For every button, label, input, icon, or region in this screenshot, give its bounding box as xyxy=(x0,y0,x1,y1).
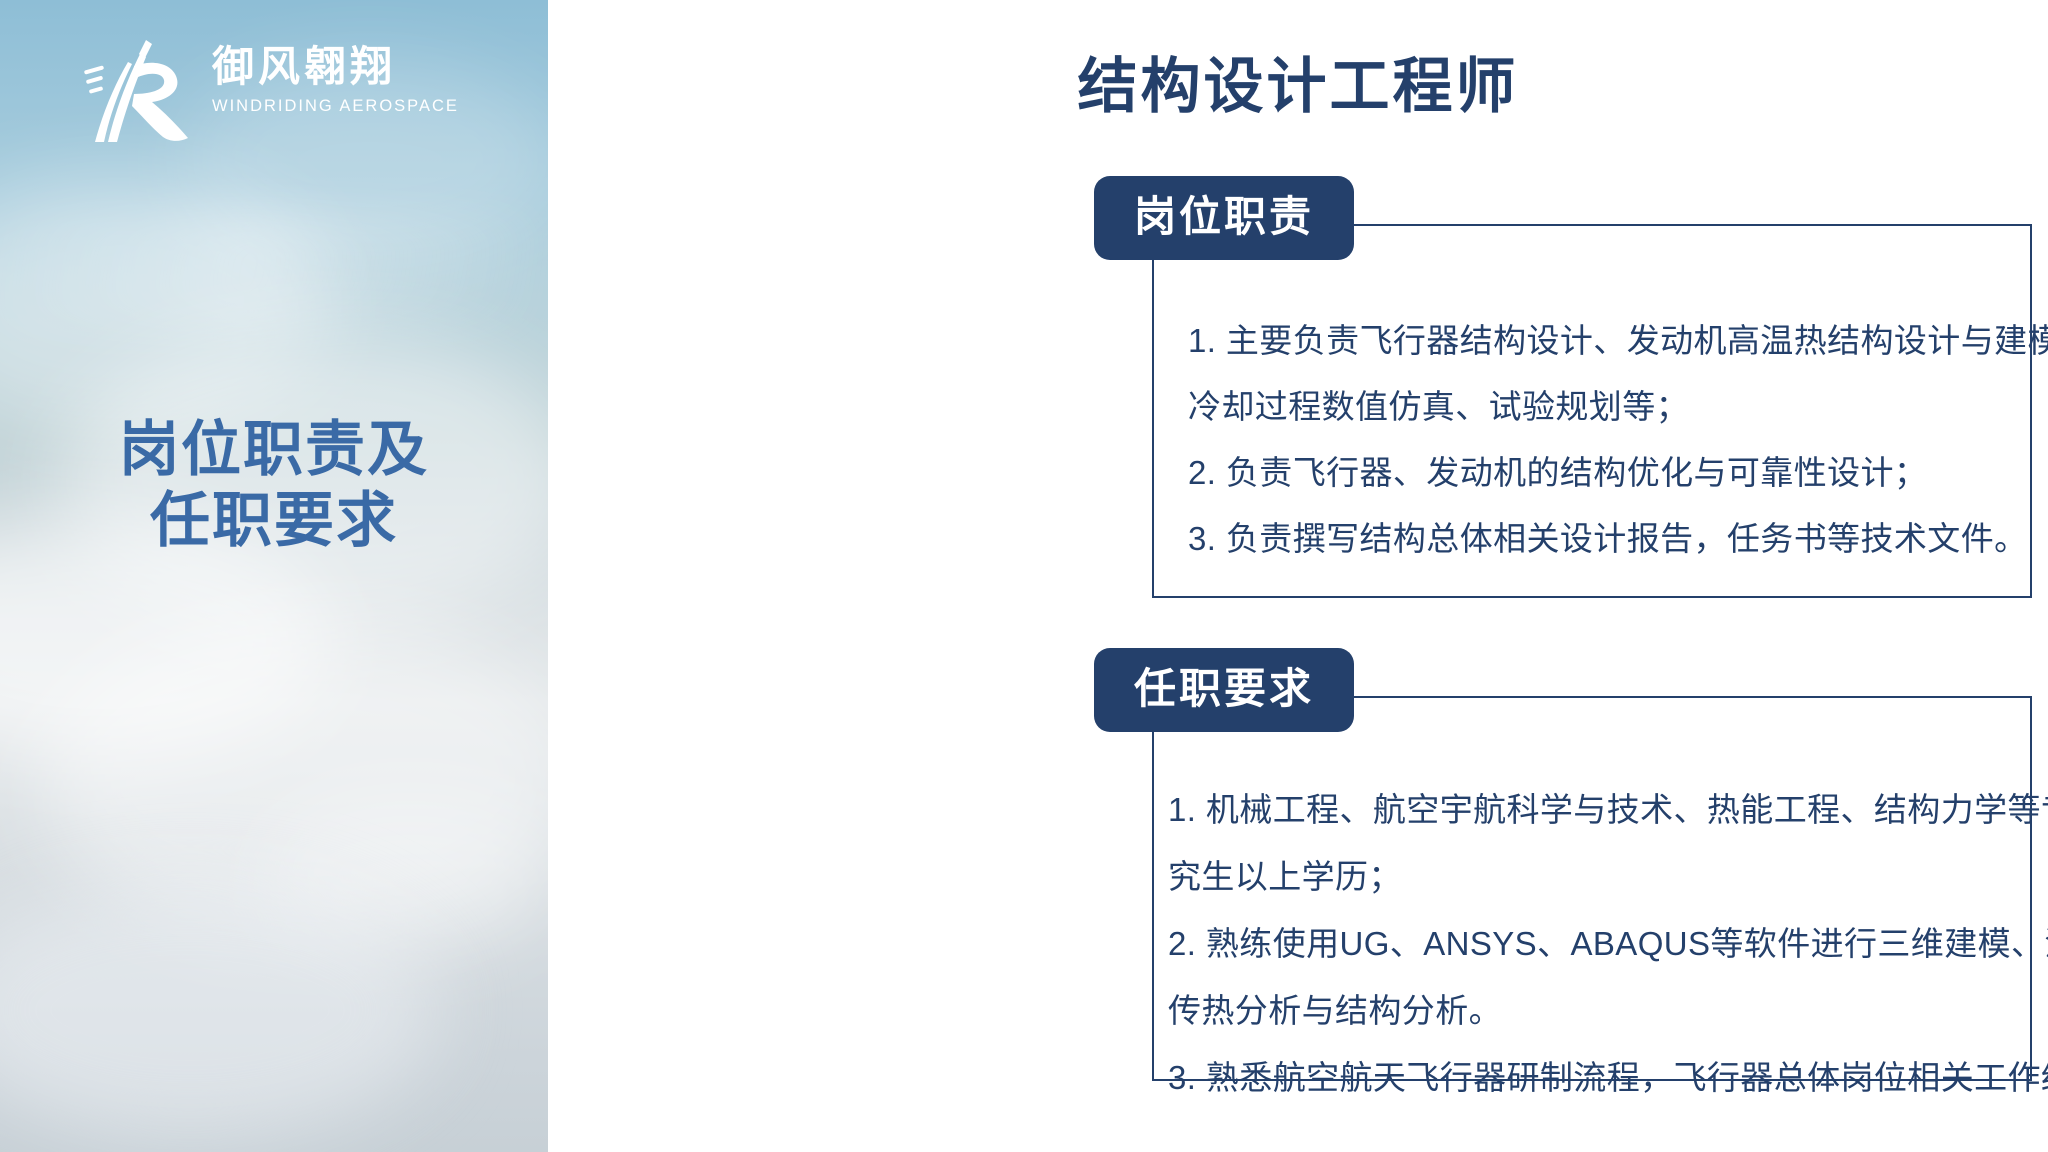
duties-card-body: 1. 主要负责飞行器结构设计、发动机高温热结构设计与建模、主被动 冷却过程数值仿… xyxy=(1152,224,2032,572)
duties-badge: 岗位职责 xyxy=(1094,176,1354,260)
page-title: 结构设计工程师 xyxy=(548,38,2048,125)
requirements-line: 究生以上学历； xyxy=(1168,843,1998,910)
logo-name-cn: 御风翱翔 xyxy=(212,46,462,88)
duties-card: 岗位职责 1. 主要负责飞行器结构设计、发动机高温热结构设计与建模、主被动 冷却… xyxy=(1152,224,2032,598)
logo-wordmark: 御风翱翔 WINDRIDING AEROSPACE xyxy=(212,46,462,116)
sidebar-heading: 岗位职责及 任职要求 xyxy=(0,415,548,557)
requirements-card: 任职要求 1. 机械工程、航空宇航科学与技术、热能工程、结构力学等专业硕士研 究… xyxy=(1152,696,2032,1081)
requirements-line: 2. 熟练使用UG、ANSYS、ABAQUS等软件进行三维建模、流场仿真、 xyxy=(1168,910,1998,977)
cloud-decoration xyxy=(40,620,548,940)
cloud-streak-decoration xyxy=(0,210,548,330)
requirements-card-body: 1. 机械工程、航空宇航科学与技术、热能工程、结构力学等专业硕士研 究生以上学历… xyxy=(1152,696,2032,1111)
duties-line: 冷却过程数值仿真、试验规划等； xyxy=(1188,374,1998,440)
duties-line: 3. 负责撰写结构总体相关设计报告，任务书等技术文件。 xyxy=(1188,506,1998,572)
requirements-line: 1. 机械工程、航空宇航科学与技术、热能工程、结构力学等专业硕士研 xyxy=(1168,776,1998,843)
requirements-line: 3. 熟悉航空航天飞行器研制流程，飞行器总体岗位相关工作经验者优先。 xyxy=(1168,1044,1998,1111)
company-logo: 御风翱翔 WINDRIDING AEROSPACE xyxy=(84,38,464,148)
requirements-badge: 任职要求 xyxy=(1094,648,1354,732)
sidebar-heading-line2: 任职要求 xyxy=(0,486,548,557)
cloud-decoration xyxy=(260,790,548,960)
duties-line: 1. 主要负责飞行器结构设计、发动机高温热结构设计与建模、主被动 xyxy=(1188,308,1998,374)
content-area: 结构设计工程师 岗位职责 1. 主要负责飞行器结构设计、发动机高温热结构设计与建… xyxy=(548,0,2048,1152)
left-sky-panel: 御风翱翔 WINDRIDING AEROSPACE 岗位职责及 任职要求 xyxy=(0,0,548,1152)
sidebar-heading-line1: 岗位职责及 xyxy=(119,416,429,483)
requirements-line: 传热分析与结构分析。 xyxy=(1168,977,1998,1044)
duties-line: 2. 负责飞行器、发动机的结构优化与可靠性设计； xyxy=(1188,440,1998,506)
windriding-r-aircraft-icon xyxy=(84,38,196,146)
logo-name-en: WINDRIDING AEROSPACE xyxy=(212,97,462,116)
cloud-decoration xyxy=(0,880,440,1140)
